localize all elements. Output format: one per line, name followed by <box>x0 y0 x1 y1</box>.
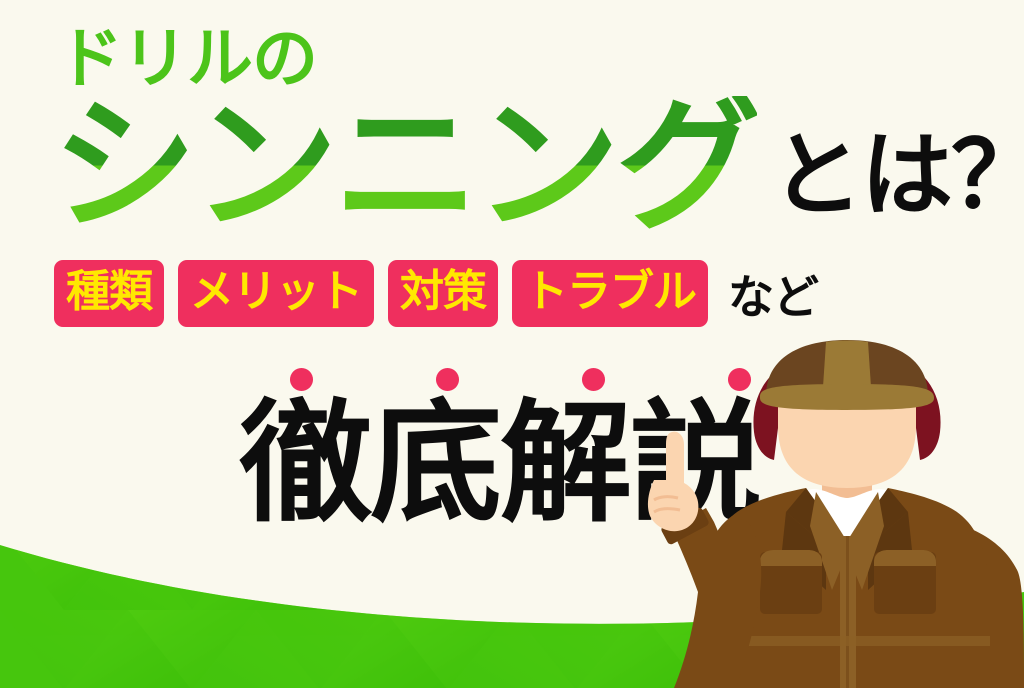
headline-tail-text: とは？ <box>757 130 1024 238</box>
collar-right-light <box>844 492 884 590</box>
waist-seam <box>704 636 990 646</box>
tag-badge-shurui[interactable]: 種類 <box>54 260 164 327</box>
tag-suffix-text: など <box>722 261 818 327</box>
zipper-line <box>846 536 849 688</box>
collar-right-under <box>868 512 912 590</box>
collar-left-under <box>782 512 826 590</box>
chest-pocket-right-flap <box>874 550 936 566</box>
headline-bottom-text: 徹底解説 <box>240 398 760 530</box>
headline-row: シンニング とは？ <box>52 96 1024 238</box>
cap-crown <box>766 340 928 402</box>
tag-badge-merit[interactable]: メリット <box>178 260 374 327</box>
left-arm-pointing <box>674 516 761 688</box>
face <box>778 368 916 488</box>
collar-left-dark <box>786 488 847 546</box>
cap-center-panel <box>822 341 872 403</box>
tag-row: 種類 メリット 対策 トラブル など <box>54 260 818 327</box>
cap-brim <box>760 384 934 410</box>
collar-right-dark <box>847 488 908 546</box>
neck <box>822 436 872 504</box>
poster-canvas: ドリルの シンニング とは？ 種類 メリット 対策 トラブル など 徹底解説 <box>0 0 1024 688</box>
t-shirt <box>800 489 894 550</box>
tag-badge-taisaku[interactable]: 対策 <box>388 260 498 327</box>
hair-right <box>890 358 941 460</box>
zipper-placket <box>840 536 856 688</box>
chest-pocket-right <box>874 552 936 614</box>
tag-badge-trouble[interactable]: トラブル <box>512 260 708 327</box>
hair-left <box>753 358 804 460</box>
chest-pocket-left <box>760 552 822 614</box>
right-arm-akimbo <box>898 518 1024 688</box>
collar-left-light <box>810 492 850 590</box>
headline-main-text: シンニング <box>52 96 757 238</box>
chest-pocket-left-flap <box>760 550 822 566</box>
